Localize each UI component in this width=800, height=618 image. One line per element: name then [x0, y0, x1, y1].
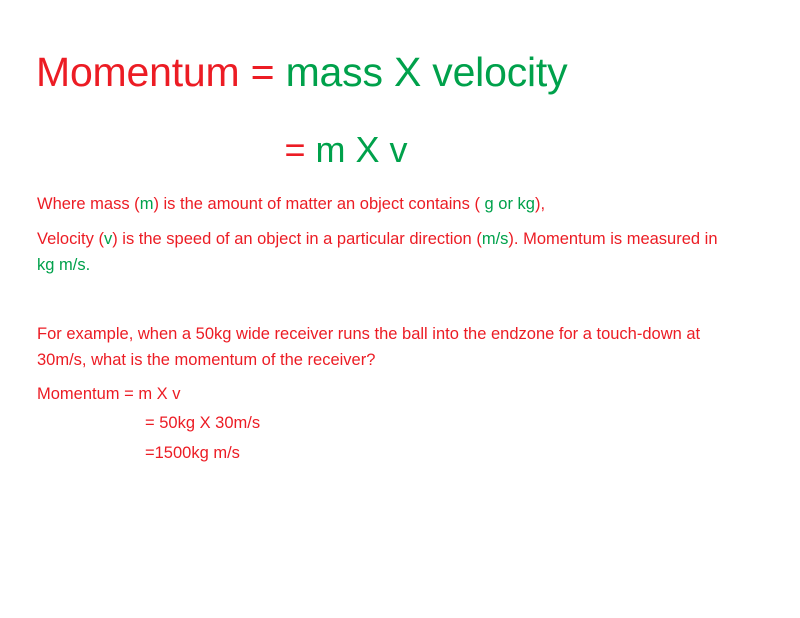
title-mass-times-velocity: mass X velocity [274, 49, 567, 95]
paragraph-velocity-definition: Velocity (v) is the speed of an object i… [37, 226, 737, 278]
calculation-line-2: = 50kg X 30m/s [37, 415, 737, 432]
momentum-units: kg m/s. [37, 256, 90, 274]
velocity-def-symbol-v: v [104, 230, 112, 248]
title-equation-symbols: = m X v [36, 128, 656, 172]
paragraph-spacer [37, 278, 737, 321]
calculation-line-1: Momentum = m X v [37, 386, 737, 403]
calculation-line-3: =1500kg m/s [37, 445, 737, 462]
paragraph-mass-definition: Where mass (m) is the amount of matter a… [37, 196, 737, 213]
mass-def-symbol-m: m [140, 195, 154, 213]
velocity-def-seg5: ). Momentum is measured in [508, 230, 717, 248]
mass-def-units: g or kg [485, 195, 535, 213]
slide-body: Where mass (m) is the amount of matter a… [37, 196, 737, 461]
mass-def-seg5: ), [535, 195, 545, 213]
paragraph-example-question: For example, when a 50kg wide receiver r… [37, 321, 737, 373]
title-momentum-equals: Momentum = [36, 49, 274, 95]
title-m-times-v: m X v [306, 129, 408, 170]
velocity-def-seg3: ) is the speed of an object in a particu… [112, 230, 482, 248]
title-equation-words: Momentum = mass X velocity [36, 48, 567, 96]
mass-def-seg3: ) is the amount of matter an object cont… [153, 195, 484, 213]
velocity-def-units: m/s [482, 230, 509, 248]
slide-canvas: Momentum = mass X velocity = m X v Where… [0, 0, 800, 618]
mass-def-seg1: Where mass ( [37, 195, 140, 213]
velocity-def-seg1: Velocity ( [37, 230, 104, 248]
title-equals-sign: = [284, 129, 305, 170]
